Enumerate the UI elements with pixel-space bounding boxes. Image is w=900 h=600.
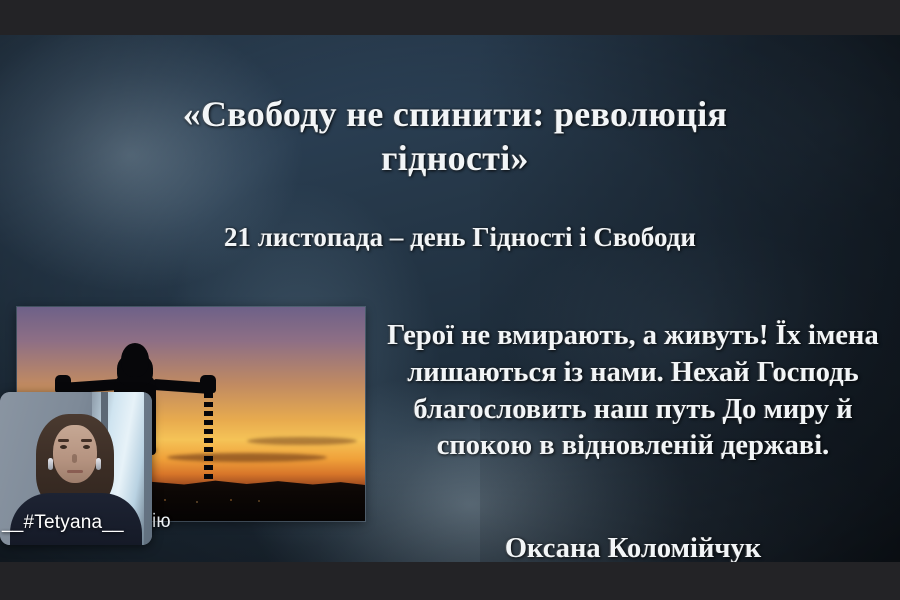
figure-hand-left — [55, 375, 71, 393]
participant-earring-right — [96, 458, 101, 470]
broken-chain-right-icon — [204, 393, 213, 481]
slide-title: «Свободу не спинити: революція гідності» — [110, 93, 800, 181]
letterbox-bar-top — [0, 0, 900, 35]
slide-subtitle: 21 листопада – день Гідності і Свободи — [120, 221, 800, 253]
participant-name-label: __#Tetyana__ — [2, 512, 124, 534]
figure-hand-right — [200, 375, 216, 393]
participant-mouth — [67, 470, 83, 473]
photo-cloud-band — [167, 453, 327, 462]
participant-eyebrow-left — [58, 439, 69, 442]
figure-head — [121, 343, 149, 377]
participant-nose — [72, 454, 77, 463]
participant-earring-left — [48, 458, 53, 470]
letterbox-bar-bottom — [0, 562, 900, 600]
participant-eye-right — [83, 445, 90, 449]
slide-quote-author: Оксана Коломійчук — [372, 532, 894, 562]
photo-cloud-band — [247, 437, 357, 445]
participant-eyebrow-right — [81, 439, 92, 442]
participant-eye-left — [60, 445, 67, 449]
slide-quote-text: Герої не вмирають, а живуть! Їх імена ли… — [372, 318, 894, 465]
screen-share-view: «Свободу не спинити: революція гідності»… — [0, 0, 900, 600]
